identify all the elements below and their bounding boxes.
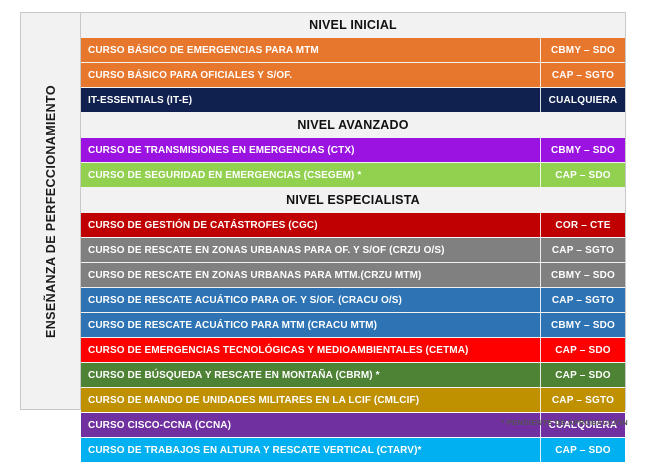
course-rank: CAP – SDO: [540, 363, 625, 387]
table-row[interactable]: CURSO DE RESCATE EN ZONAS URBANAS PARA O…: [81, 238, 625, 262]
table-row[interactable]: CURSO BÁSICO PARA OFICIALES Y S/OF.CAP –…: [81, 63, 625, 87]
course-name: CURSO CISCO-CCNA (CCNA): [81, 413, 540, 437]
course-rank: COR – CTE: [540, 213, 625, 237]
course-name: CURSO DE RESCATE ACUÁTICO PARA MTM (CRAC…: [81, 313, 540, 337]
table-row[interactable]: CURSO DE RESCATE ACUÁTICO PARA OF. Y S/O…: [81, 288, 625, 312]
course-rank: CBMY – SDO: [540, 263, 625, 287]
course-rank: CBMY – SDO: [540, 313, 625, 337]
course-name: CURSO DE BÚSQUEDA Y RESCATE EN MONTAÑA (…: [81, 363, 540, 387]
course-name: CURSO DE RESCATE EN ZONAS URBANAS PARA O…: [81, 238, 540, 262]
table-row[interactable]: CURSO DE GESTIÓN DE CATÁSTROFES (CGC)COR…: [81, 213, 625, 237]
course-name: CURSO DE EMERGENCIAS TECNOLÓGICAS Y MEDI…: [81, 338, 540, 362]
table-row[interactable]: CURSO DE MANDO DE UNIDADES MILITARES EN …: [81, 388, 625, 412]
course-name: CURSO BÁSICO PARA OFICIALES Y S/OF.: [81, 63, 540, 87]
table-row[interactable]: CURSO DE EMERGENCIAS TECNOLÓGICAS Y MEDI…: [81, 338, 625, 362]
vertical-axis-label: ENSEÑANZA DE PERFECCIONAMIENTO: [21, 13, 81, 409]
levels-table: NIVEL INICIALCURSO BÁSICO DE EMERGENCIAS…: [81, 13, 625, 409]
course-name: CURSO DE RESCATE EN ZONAS URBANAS PARA M…: [81, 263, 540, 287]
section-header: NIVEL AVANZADO: [81, 113, 625, 138]
table-row[interactable]: CURSO DE RESCATE EN ZONAS URBANAS PARA M…: [81, 263, 625, 287]
course-rank: CAP – SGTO: [540, 63, 625, 87]
course-name: CURSO DE MANDO DE UNIDADES MILITARES EN …: [81, 388, 540, 412]
table-row[interactable]: CURSO BÁSICO DE EMERGENCIAS PARA MTMCBMY…: [81, 38, 625, 62]
course-rank: CUALQUIERA: [540, 88, 625, 112]
course-name: CURSO DE TRABAJOS EN ALTURA Y RESCATE VE…: [81, 438, 540, 462]
course-rank: CBMY – SDO: [540, 38, 625, 62]
course-name: CURSO DE RESCATE ACUÁTICO PARA OF. Y S/O…: [81, 288, 540, 312]
course-rank: CAP – SGTO: [540, 388, 625, 412]
table-row[interactable]: CURSO DE BÚSQUEDA Y RESCATE EN MONTAÑA (…: [81, 363, 625, 387]
course-rank: CAP – SDO: [540, 163, 625, 187]
course-name: CURSO DE GESTIÓN DE CATÁSTROFES (CGC): [81, 213, 540, 237]
footnote-pending-approval: * PENDIENTE DE APROBACCIÓN: [501, 418, 628, 427]
course-rank: CAP – SDO: [540, 338, 625, 362]
diagram-frame: ENSEÑANZA DE PERFECCIONAMIENTO NIVEL INI…: [20, 12, 626, 410]
table-row[interactable]: CURSO DE RESCATE ACUÁTICO PARA MTM (CRAC…: [81, 313, 625, 337]
course-name: CURSO BÁSICO DE EMERGENCIAS PARA MTM: [81, 38, 540, 62]
table-row[interactable]: CURSO DE TRANSMISIONES EN EMERGENCIAS (C…: [81, 138, 625, 162]
table-row[interactable]: IT-ESSENTIALS (IT-E)CUALQUIERA: [81, 88, 625, 112]
training-levels-diagram: ENSEÑANZA DE PERFECCIONAMIENTO NIVEL INI…: [0, 0, 650, 438]
course-name: CURSO DE SEGURIDAD EN EMERGENCIAS (CSEGE…: [81, 163, 540, 187]
table-row[interactable]: CURSO DE TRABAJOS EN ALTURA Y RESCATE VE…: [81, 438, 625, 462]
course-name: CURSO DE TRANSMISIONES EN EMERGENCIAS (C…: [81, 138, 540, 162]
course-name: IT-ESSENTIALS (IT-E): [81, 88, 540, 112]
section-header: NIVEL INICIAL: [81, 13, 625, 38]
section-header: NIVEL ESPECIALISTA: [81, 188, 625, 213]
course-rank: CBMY – SDO: [540, 138, 625, 162]
course-rank: CAP – SGTO: [540, 288, 625, 312]
course-rank: CAP – SDO: [540, 438, 625, 462]
vertical-axis-label-text: ENSEÑANZA DE PERFECCIONAMIENTO: [44, 85, 58, 338]
table-row[interactable]: CURSO DE SEGURIDAD EN EMERGENCIAS (CSEGE…: [81, 163, 625, 187]
course-rank: CAP – SGTO: [540, 238, 625, 262]
